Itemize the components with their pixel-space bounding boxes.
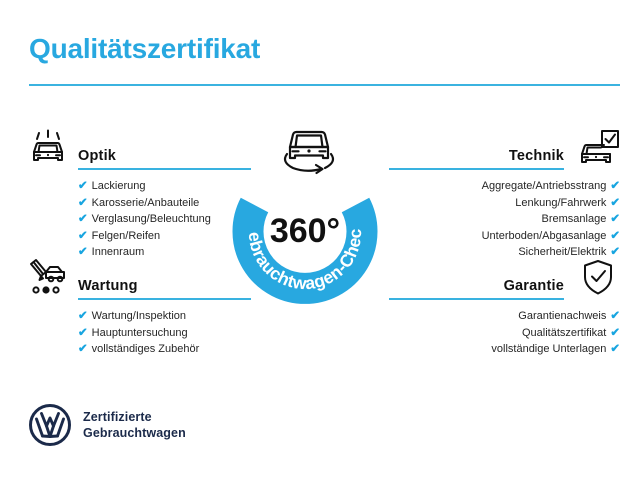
section-garantie: Garantie Garantienachweis✔ Qualitätszert… [389,258,620,358]
list-item-label: Felgen/Reifen [92,230,161,242]
list-item: vollständige Unterlagen✔ [389,341,620,358]
section-optik-list: ✔Lackierung ✔Karosserie/Anbauteile ✔Verg… [29,178,251,261]
section-wartung-header: Wartung [29,258,251,302]
list-item-label: vollständiges Zubehör [92,343,200,355]
list-item-label: Qualitätszertifikat [522,327,606,339]
list-item: Unterboden/Abgasanlage✔ [389,228,620,245]
section-optik-title: Optik [78,148,116,164]
list-item-label: Aggregate/Antriebsstrang [482,180,607,192]
list-item: Aggregate/Antriebsstrang✔ [389,178,620,195]
section-garantie-underline [389,298,564,300]
list-item-label: Karosserie/Anbauteile [92,197,200,209]
footer-brand-text: Zertifizierte Gebrauchtwagen [83,409,186,441]
check-icon: ✔ [78,327,88,339]
section-technik-header: Technik [389,128,620,172]
qualitaetszertifikat-page: Qualitätszertifikat [0,0,640,480]
list-item-label: Sicherheit/Elektrik [518,246,606,258]
check-icon: ✔ [78,343,88,355]
list-item-label: Unterboden/Abgasanlage [482,230,607,242]
check-icon: ✔ [610,343,620,355]
list-item-label: Hauptuntersuchung [92,327,188,339]
check-icon: ✔ [610,327,620,339]
list-item: Garantienachweis✔ [389,308,620,325]
page-title: Qualitätszertifikat [29,33,260,65]
vw-logo-icon [29,404,71,446]
list-item: ✔Hauptuntersuchung [29,325,251,342]
list-item-label: Lenkung/Fahrwerk [515,197,606,209]
footer-brand: Zertifizierte Gebrauchtwagen [29,404,186,446]
section-optik: Optik ✔Lackierung ✔Karosserie/Anbauteile… [29,128,251,261]
list-item: ✔Lackierung [29,178,251,195]
section-technik-underline [389,168,564,170]
section-optik-header: Optik [29,128,251,172]
section-wartung: Wartung ✔Wartung/Inspektion ✔Hauptunters… [29,258,251,358]
section-wartung-title: Wartung [78,278,138,294]
list-item: Bremsanlage✔ [389,211,620,228]
list-item: ✔Karosserie/Anbauteile [29,195,251,212]
check-icon: ✔ [610,180,620,192]
check-icon: ✔ [610,230,620,242]
check-icon: ✔ [610,213,620,225]
list-item: ✔Felgen/Reifen [29,228,251,245]
list-item-label: Bremsanlage [542,213,607,225]
section-optik-underline [78,168,251,170]
check-icon: ✔ [610,197,620,209]
list-item-label: Wartung/Inspektion [92,310,186,322]
section-technik-title: Technik [509,148,564,164]
section-technik: Technik Aggregate/Antriebsstrang✔ Lenkun… [389,128,620,261]
section-garantie-title: Garantie [504,278,564,294]
badge-360-gebrauchtwagen-check: Gebrauchtwagen-Check 360° [228,156,382,310]
list-item-label: Verglasung/Beleuchtung [92,213,211,225]
check-icon: ✔ [78,180,88,192]
section-technik-list: Aggregate/Antriebsstrang✔ Lenkung/Fahrwe… [389,178,620,261]
list-item-label: Innenraum [92,246,145,258]
list-item: ✔Wartung/Inspektion [29,308,251,325]
list-item: ✔vollständiges Zubehör [29,341,251,358]
section-wartung-list: ✔Wartung/Inspektion ✔Hauptuntersuchung ✔… [29,308,251,358]
list-item: Qualitätszertifikat✔ [389,325,620,342]
list-item-label: Lackierung [92,180,146,192]
shield-check-icon [576,258,620,298]
check-icon: ✔ [78,197,88,209]
check-icon: ✔ [78,310,88,322]
service-book-pen-car-icon [26,258,70,298]
check-icon: ✔ [78,213,88,225]
check-icon: ✔ [78,230,88,242]
car-shine-icon [26,128,70,168]
title-divider [29,84,620,86]
section-garantie-header: Garantie [389,258,620,302]
car-rotate-360-icon [273,122,345,178]
list-item-label: vollständige Unterlagen [491,343,606,355]
check-icon: ✔ [78,246,88,258]
section-wartung-underline [78,298,251,300]
section-garantie-list: Garantienachweis✔ Qualitätszertifikat✔ v… [389,308,620,358]
car-checkbox-icon [576,128,620,168]
check-icon: ✔ [610,310,620,322]
badge-center-label: 360° [270,212,340,250]
footer-line-2: Gebrauchtwagen [83,425,186,441]
list-item: ✔Verglasung/Beleuchtung [29,211,251,228]
check-icon: ✔ [610,246,620,258]
list-item: Lenkung/Fahrwerk✔ [389,195,620,212]
list-item-label: Garantienachweis [518,310,606,322]
footer-line-1: Zertifizierte [83,409,186,425]
